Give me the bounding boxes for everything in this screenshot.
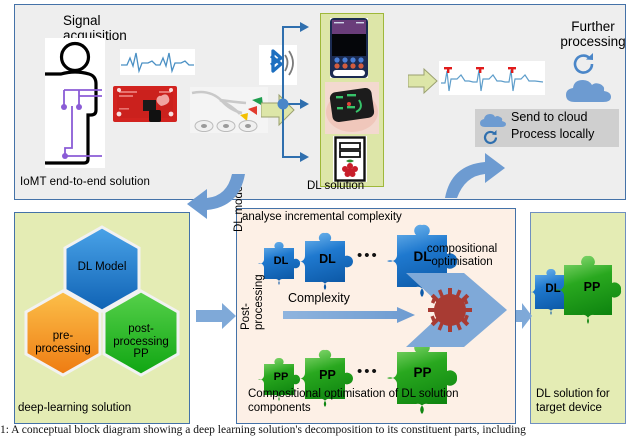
refresh-icon (482, 129, 499, 145)
pp-piece-label-1: PP (264, 371, 298, 383)
post-processing-row-label: Post- processing (240, 260, 268, 330)
annotated-ecg-waveform (439, 61, 545, 95)
human-body-icon (45, 38, 105, 168)
dl-solution-label: DL solution (307, 180, 364, 192)
deep-learning-solution-label: deep-learning solution (18, 402, 131, 414)
dl-piece-label-2: DL (306, 252, 349, 266)
legend-label-send-to-cloud: Send to cloud (511, 110, 587, 124)
legend-label-process-locally: Process locally (511, 127, 594, 141)
refresh-icon (571, 51, 597, 77)
pre-processing-hexagon-label: pre- processing (26, 330, 100, 355)
ecg-sensor-board-image (113, 84, 177, 124)
smartphone-device (330, 18, 368, 78)
analyse-incremental-complexity-label: analyse incremental complexity (242, 211, 402, 223)
cloud-icon (563, 77, 615, 107)
pp-piece-label-3: PP (397, 365, 448, 380)
bluetooth-icon (259, 45, 297, 85)
dl-row-ellipsis: ••• (357, 247, 379, 264)
ecg-electrode-leads-image (190, 87, 268, 133)
cloud-icon (479, 113, 507, 129)
figure-caption: 1: A conceptual block diagram showing a … (0, 424, 640, 436)
pale-arrow-right-2 (408, 67, 438, 95)
dl-piece-label-1: DL (264, 255, 298, 267)
compositional-optimisation-caption: Compositional optimisation of DL solutio… (248, 388, 510, 415)
compositional-optimisation-label: compositional optimisation (414, 243, 510, 269)
pp-puzzle-piece-label: PP (566, 280, 618, 294)
smartwatch-device (325, 82, 379, 134)
ecg-waveform-image (120, 49, 195, 75)
raspberry-pi-device (333, 136, 367, 182)
iomt-end-to-end-panel: Signal acquisition (14, 4, 626, 200)
pp-piece-label-2: PP (306, 368, 349, 382)
iomt-panel-label: IoMT end-to-end solution (20, 176, 150, 188)
dl-model-hexagon-label: DL Model (15, 261, 189, 274)
deep-learning-solution-panel: DL Model pre- processing post- processin… (14, 212, 190, 424)
gear-icon (428, 288, 472, 332)
dl-models-row-label: DL models (233, 172, 249, 232)
pp-row-ellipsis: ••• (357, 363, 379, 380)
post-processing-hexagon-label: post- processing PP (104, 323, 178, 361)
further-processing-title: Further processing (545, 19, 640, 49)
pale-arrow-right-1 (261, 93, 295, 127)
target-device-label: DL solution for target device (536, 388, 624, 415)
processing-legend: Send to cloud Process locally (475, 109, 619, 147)
dl-solution-device-group (320, 13, 384, 187)
complexity-axis-label: Complexity (288, 291, 350, 305)
